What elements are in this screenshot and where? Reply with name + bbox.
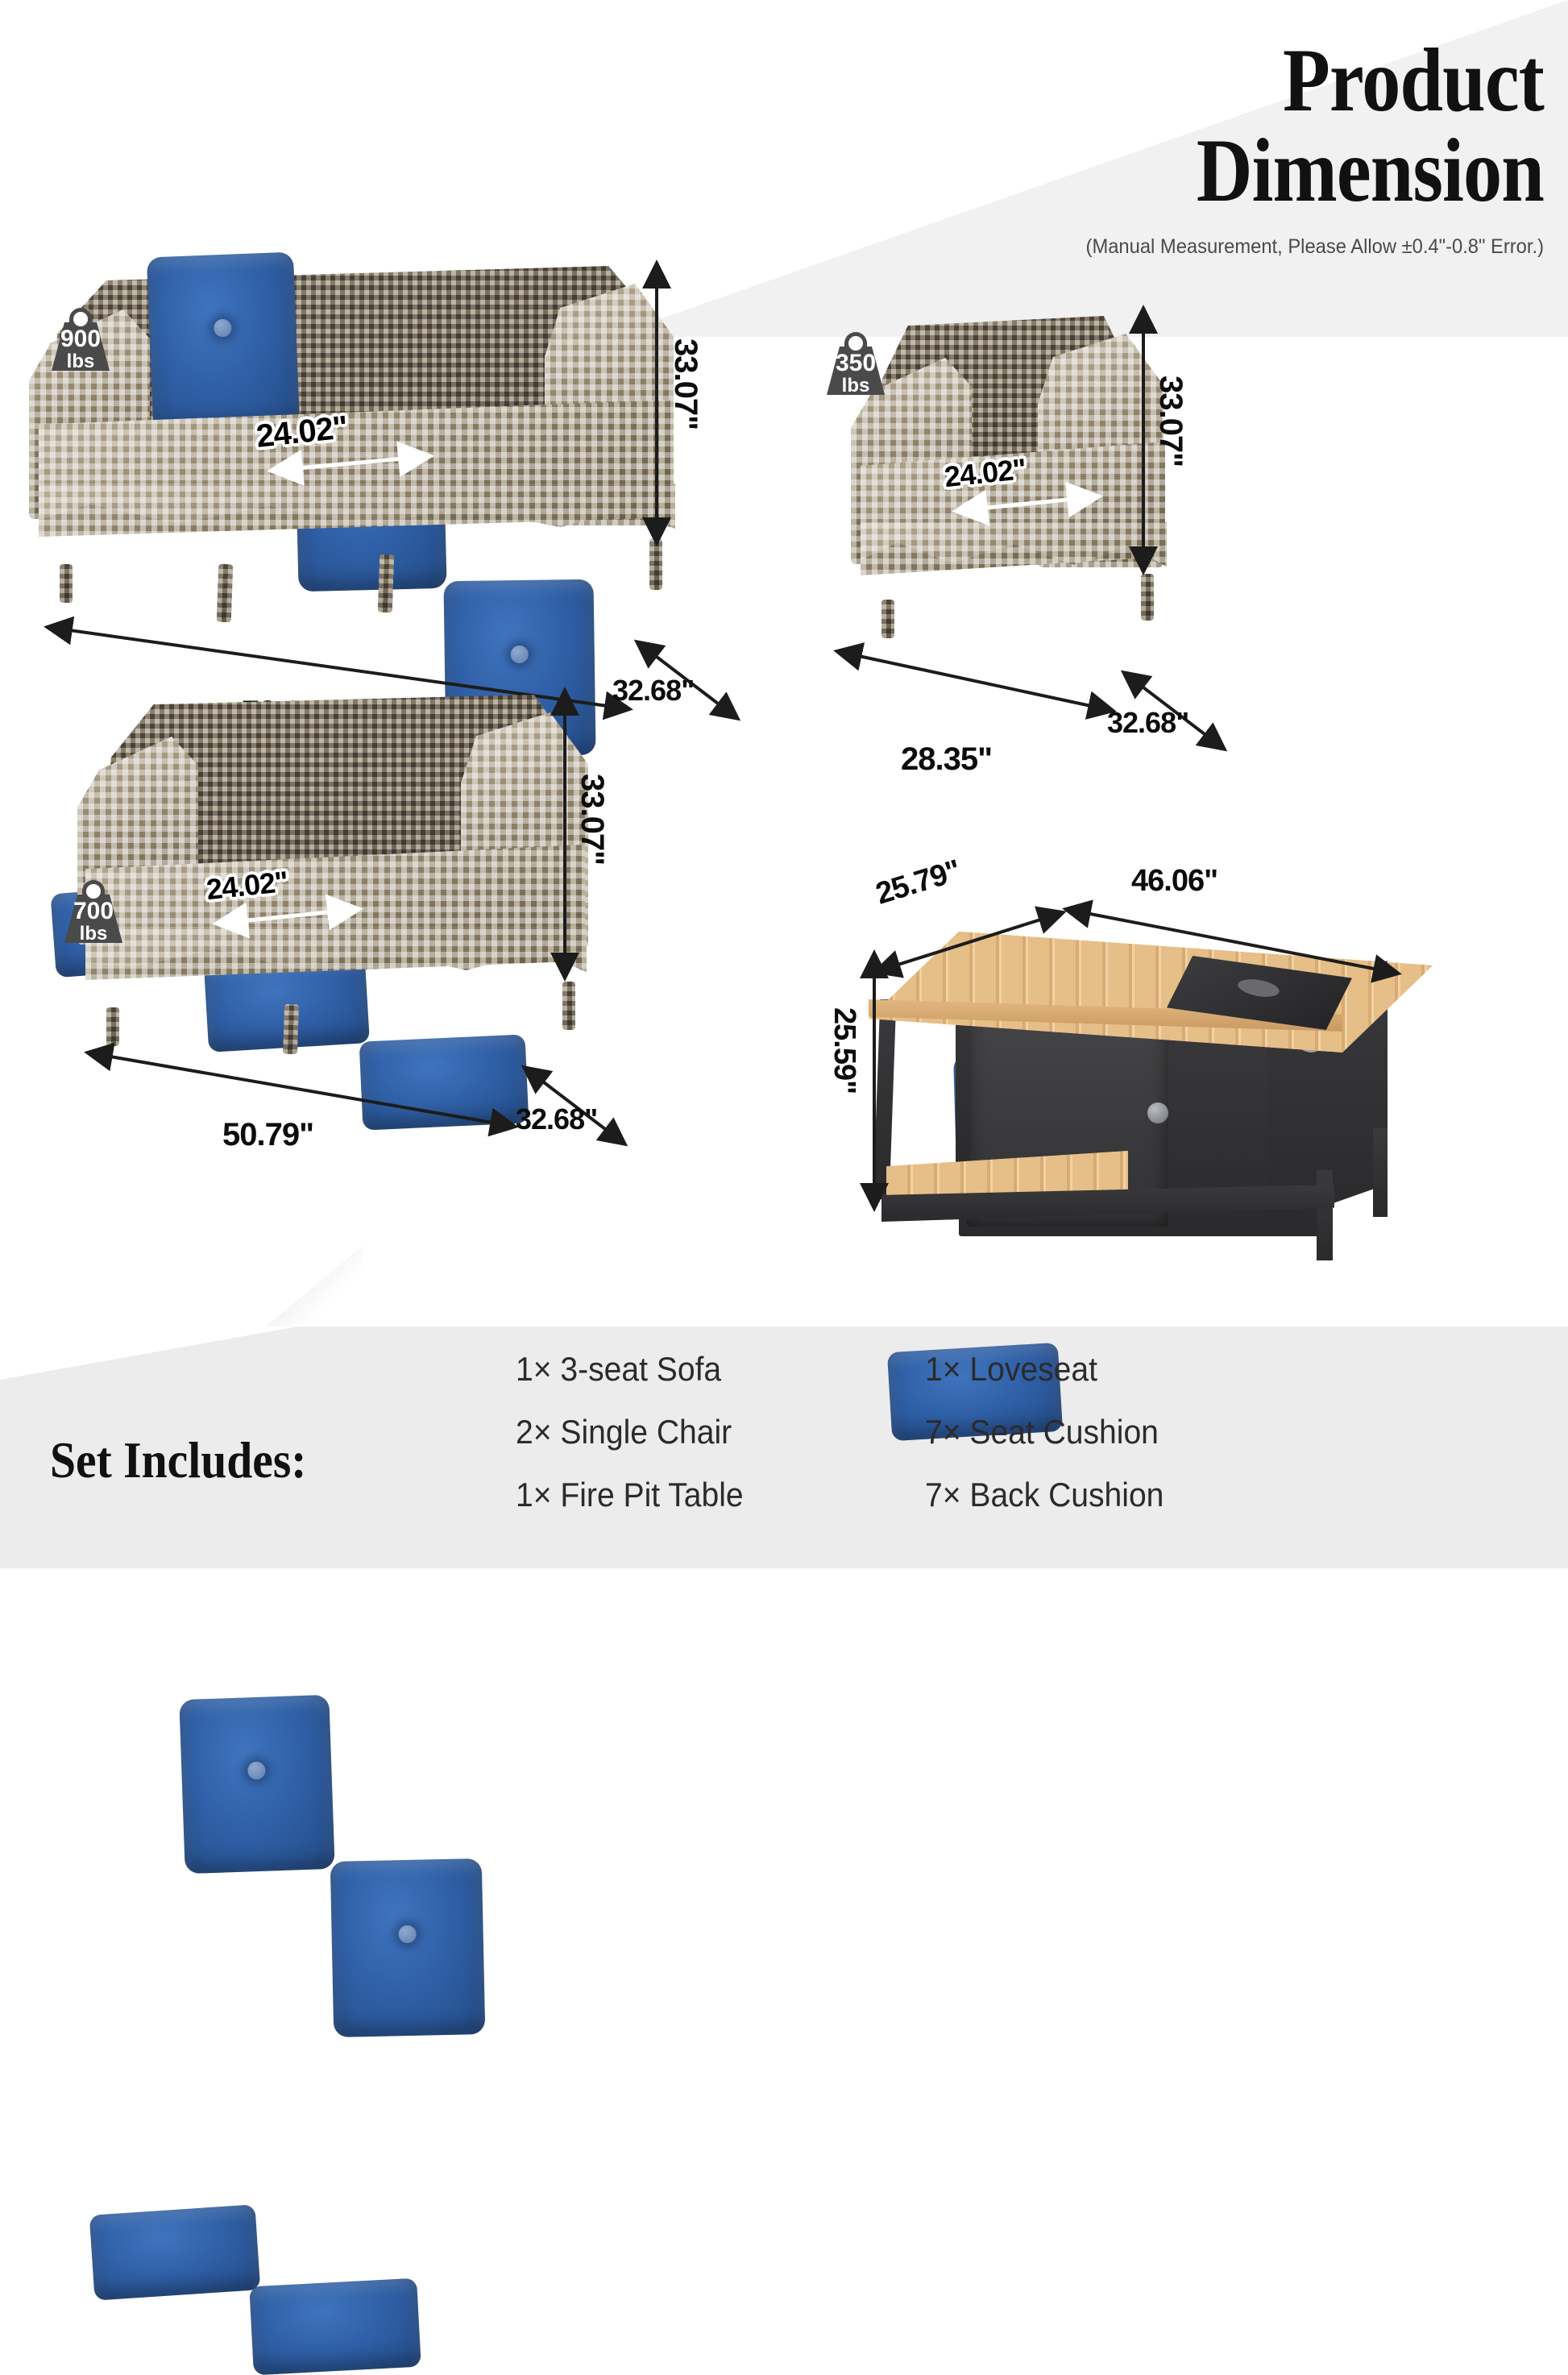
measurement-disclaimer: (Manual Measurement, Please Allow ±0.4"-… — [909, 235, 1545, 259]
set-includes-column-b: 1× Loveseat 7× Seat Cushion 7× Back Cush… — [925, 1338, 1182, 1526]
set-includes-item-qty: 7× — [925, 1476, 961, 1513]
chair-width-label: 28.35" — [901, 741, 992, 778]
chair-seat-width-arrow — [951, 492, 1104, 516]
set-includes-item-qty: 1× — [516, 1350, 552, 1388]
set-includes-item: 7× Seat Cushion — [925, 1401, 1164, 1464]
set-includes-item-qty: 1× — [516, 1476, 552, 1513]
set-includes-item-qty: 1× — [925, 1350, 961, 1388]
set-includes-item-label: Seat Cushion — [969, 1413, 1159, 1451]
loveseat-width-label: 50.79" — [222, 1117, 313, 1153]
weight-capacity-value: 900 — [60, 326, 101, 352]
weight-capacity-value: 350 — [836, 350, 876, 376]
set-includes-item-label: Fire Pit Table — [560, 1476, 743, 1513]
firepit-leg-back-right — [1373, 1128, 1388, 1217]
page-title: Product Dimension — [969, 35, 1544, 216]
chair-depth-label: 32.68" — [1107, 706, 1188, 740]
firepit-height-arrow — [862, 948, 886, 1214]
set-includes-item-label: Back Cushion — [969, 1476, 1164, 1513]
loveseat-leg-3 — [562, 982, 575, 1030]
set-includes-column-a: 1× 3-seat Sofa 2× Single Chair 1× Fire P… — [516, 1338, 761, 1526]
firepit-height-label: 25.59" — [827, 1007, 861, 1094]
loveseat-height-label: 33.07" — [574, 774, 610, 865]
firepit-leg-front-right — [1317, 1170, 1333, 1260]
set-includes-item: 1× Loveseat — [925, 1338, 1164, 1401]
loveseat-depth-label: 32.68" — [516, 1102, 597, 1136]
set-includes-item-qty: 7× — [925, 1413, 961, 1451]
page-header: Product Dimension (Manual Measurement, P… — [875, 35, 1544, 259]
weight-icon: 350 lbs — [812, 324, 899, 398]
weight-capacity-value: 700 — [73, 898, 114, 924]
sofa-height-arrow — [645, 258, 669, 548]
loveseat-seat-cushion-1 — [89, 2204, 261, 2300]
loveseat-seat-cushion-2 — [249, 2278, 421, 2375]
sofa-height-label: 33.07" — [667, 338, 703, 430]
set-includes-item: 1× 3-seat Sofa — [516, 1338, 744, 1401]
chair-height-label: 33.07" — [1152, 376, 1188, 467]
page-title-line-2: Dimension — [1197, 121, 1544, 221]
chair-width-arrow — [830, 645, 1120, 717]
weight-capacity-badge-sofa: 900 lbs — [37, 300, 124, 374]
firepit-width-arrow — [1059, 903, 1405, 980]
loveseat-leg-2 — [106, 1007, 119, 1046]
weight-icon: 700 lbs — [50, 872, 137, 946]
loveseat-back-cushion-1 — [179, 1695, 334, 1874]
set-includes-item-label: 3-seat Sofa — [560, 1350, 721, 1388]
sofa-back-cushion-1 — [147, 252, 300, 432]
weight-capacity-unit: lbs — [80, 923, 108, 945]
weight-capacity-unit: lbs — [842, 375, 870, 397]
set-includes-item: 7× Back Cushion — [925, 1464, 1164, 1526]
sofa-leg-3 — [60, 564, 73, 603]
firepit-width-label: 46.06" — [1131, 864, 1217, 899]
sofa-leg-1 — [217, 564, 234, 623]
firepit-depth-arrow — [869, 906, 1070, 978]
chair-leg-1 — [881, 600, 894, 638]
weight-capacity-badge-chair: 350 lbs — [812, 324, 899, 398]
set-includes-item: 1× Fire Pit Table — [516, 1464, 744, 1526]
weight-icon: 900 lbs — [37, 300, 124, 374]
chair-leg-2 — [1141, 574, 1154, 621]
sofa-leg-2 — [378, 554, 395, 613]
weight-capacity-unit: lbs — [67, 351, 95, 372]
set-includes-item-label: Loveseat — [969, 1350, 1097, 1388]
weight-capacity-badge-loveseat: 700 lbs — [50, 872, 137, 946]
set-includes-title: Set Includes: — [50, 1430, 306, 1490]
page-title-line-1: Product — [1283, 31, 1544, 131]
loveseat-back-cushion-2 — [330, 1858, 486, 2037]
set-includes-item-label: Single Chair — [560, 1413, 732, 1451]
sofa-seat-width-arrow — [266, 451, 435, 475]
firepit-cabinet-knob — [1147, 1102, 1168, 1123]
sofa-depth-label: 32.68" — [612, 674, 694, 708]
set-includes-item-qty: 2× — [516, 1413, 552, 1451]
loveseat-seat-width-arrow — [211, 904, 364, 928]
set-includes-item: 2× Single Chair — [516, 1401, 744, 1464]
